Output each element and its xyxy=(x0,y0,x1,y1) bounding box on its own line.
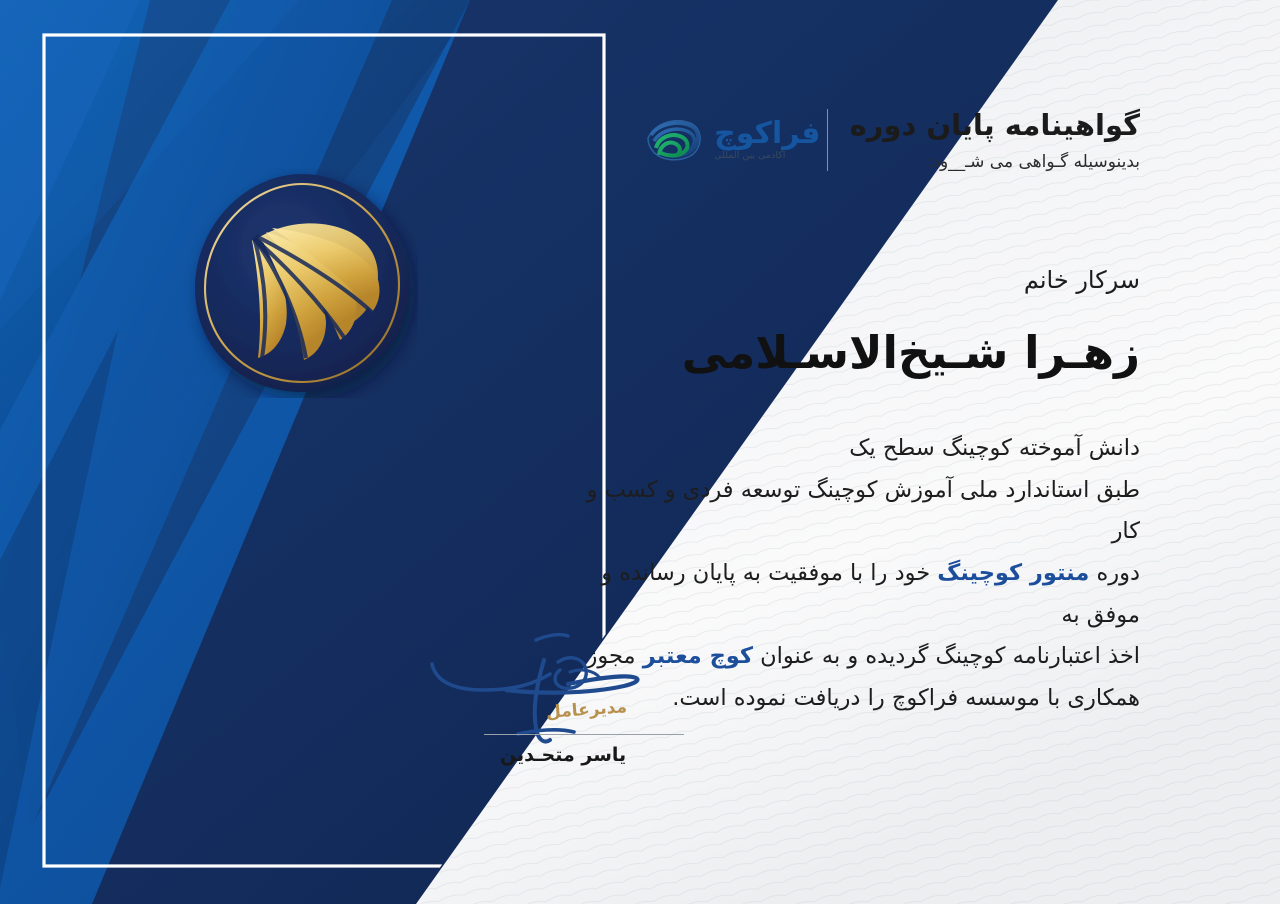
swoosh-wave-logo-icon xyxy=(644,115,704,165)
brand-subtitle: آکادمی بین المللی xyxy=(714,151,785,161)
body-line-3-pre: دوره xyxy=(1089,560,1140,586)
page-title: گواهینامه پایان دوره xyxy=(850,108,1140,142)
signature-rule xyxy=(484,734,684,735)
brand-wordmark: فراکوچ آکادمی بین المللی xyxy=(714,119,820,161)
certificate-content: گواهینامه پایان دوره بدینوسیله گـواهی می… xyxy=(0,0,1280,904)
body-line-1: دانش آموخته کوچینگ سطح یک xyxy=(560,428,1140,470)
signature-block: مدیرعامل یاسر متحـدین xyxy=(418,624,708,784)
certificate-header: گواهینامه پایان دوره بدینوسیله گـواهی می… xyxy=(626,108,1140,172)
brand-logo: فراکوچ آکادمی بین المللی xyxy=(626,115,820,165)
signature-name: یاسر متحـدین xyxy=(418,744,708,766)
highlight-mentor-coaching: منتور کوچینگ xyxy=(937,560,1089,586)
header-divider xyxy=(827,109,828,171)
header-title-group: گواهینامه پایان دوره بدینوسیله گـواهی می… xyxy=(850,108,1140,172)
body-line-4-pre: اخذ اعتبارنامه کوچینگ گردیده و به عنوان xyxy=(753,643,1140,669)
certificate-canvas: گواهینامه پایان دوره بدینوسیله گـواهی می… xyxy=(0,0,1280,904)
body-line-2: طبق استاندارد ملی آموزش کوچینگ توسعه فرد… xyxy=(560,470,1140,553)
recipient-name: زهـرا شـیخ‌الاسـلامی xyxy=(682,326,1140,379)
recipient-salutation: سرکار خانم xyxy=(1024,266,1140,294)
header-subtitle: بدینوسیله گـواهی می شـ__ود: xyxy=(927,152,1140,172)
brand-name: فراکوچ xyxy=(714,119,820,149)
